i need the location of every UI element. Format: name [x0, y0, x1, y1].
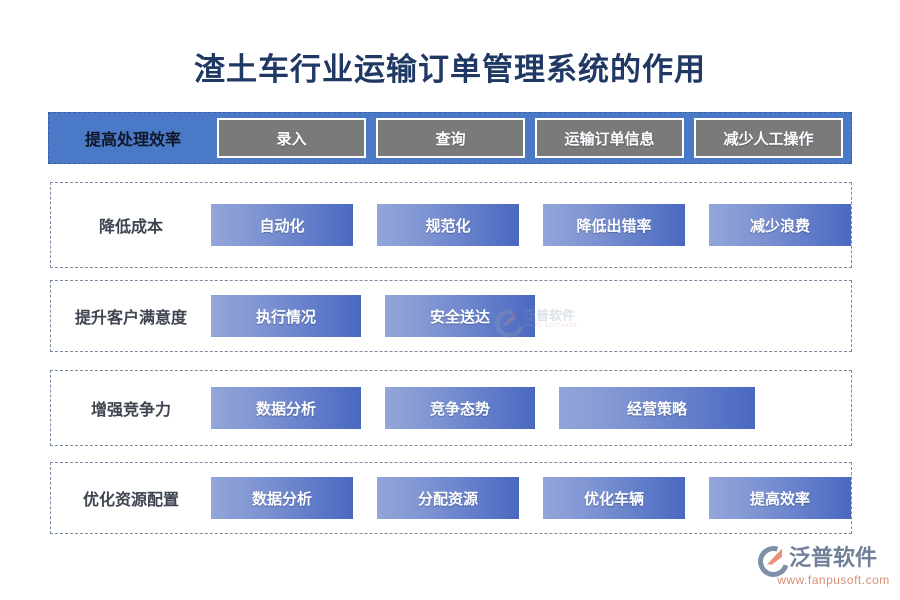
button-query[interactable]: 查询 [376, 118, 525, 158]
row-reduce-cost: 降低成本 自动化 规范化 降低出错率 减少浪费 [50, 182, 852, 268]
button-data-analysis-competitiveness[interactable]: 数据分析 [211, 387, 361, 429]
fanpu-logo-icon [757, 544, 787, 573]
button-reduce-manual-operation[interactable]: 减少人工操作 [694, 118, 843, 158]
button-optimize-vehicles[interactable]: 优化车辆 [543, 477, 685, 519]
button-standardization[interactable]: 规范化 [377, 204, 519, 246]
button-allocate-resources[interactable]: 分配资源 [377, 477, 519, 519]
row-improve-processing-efficiency: 提高处理效率 录入 查询 运输订单信息 减少人工操作 [48, 112, 852, 164]
row-label-optimize-resource-allocation: 优化资源配置 [51, 486, 211, 510]
button-improve-efficiency[interactable]: 提高效率 [709, 477, 851, 519]
button-automation[interactable]: 自动化 [211, 204, 353, 246]
button-reduce-error-rate[interactable]: 降低出错率 [543, 204, 685, 246]
brand-url: www.fanpusoft.com [775, 573, 892, 587]
button-competitive-situation[interactable]: 竞争态势 [385, 387, 535, 429]
button-execution-status[interactable]: 执行情况 [211, 295, 361, 337]
brand-name-cn: 泛普软件 [789, 545, 877, 571]
button-data-analysis-resource[interactable]: 数据分析 [211, 477, 353, 519]
row-label-enhance-competitiveness: 增强竞争力 [51, 396, 211, 420]
row-optimize-resource-allocation: 优化资源配置 数据分析 分配资源 优化车辆 提高效率 [50, 462, 852, 534]
button-safe-delivery[interactable]: 安全送达 [385, 295, 535, 337]
button-reduce-waste[interactable]: 减少浪费 [709, 204, 851, 246]
brand-logo-top: 泛普软件 [757, 543, 892, 573]
row-label-reduce-cost: 降低成本 [51, 213, 211, 237]
button-business-strategy[interactable]: 经营策略 [559, 387, 755, 429]
row-label-improve-processing-efficiency: 提高处理效率 [57, 126, 209, 150]
brand-logo: 泛普软件 www.fanpusoft.com [757, 543, 892, 591]
row-enhance-competitiveness: 增强竞争力 数据分析 竞争态势 经营策略 [50, 370, 852, 446]
row-improve-customer-satisfaction: 提升客户满意度 执行情况 安全送达 [50, 280, 852, 352]
infographic-page: 渣土车行业运输订单管理系统的作用 提高处理效率 录入 查询 运输订单信息 减少人… [0, 0, 900, 600]
button-entry[interactable]: 录入 [217, 118, 366, 158]
button-transport-order-info[interactable]: 运输订单信息 [535, 118, 684, 158]
row-label-improve-customer-satisfaction: 提升客户满意度 [51, 304, 211, 328]
page-title: 渣土车行业运输订单管理系统的作用 [0, 50, 900, 90]
